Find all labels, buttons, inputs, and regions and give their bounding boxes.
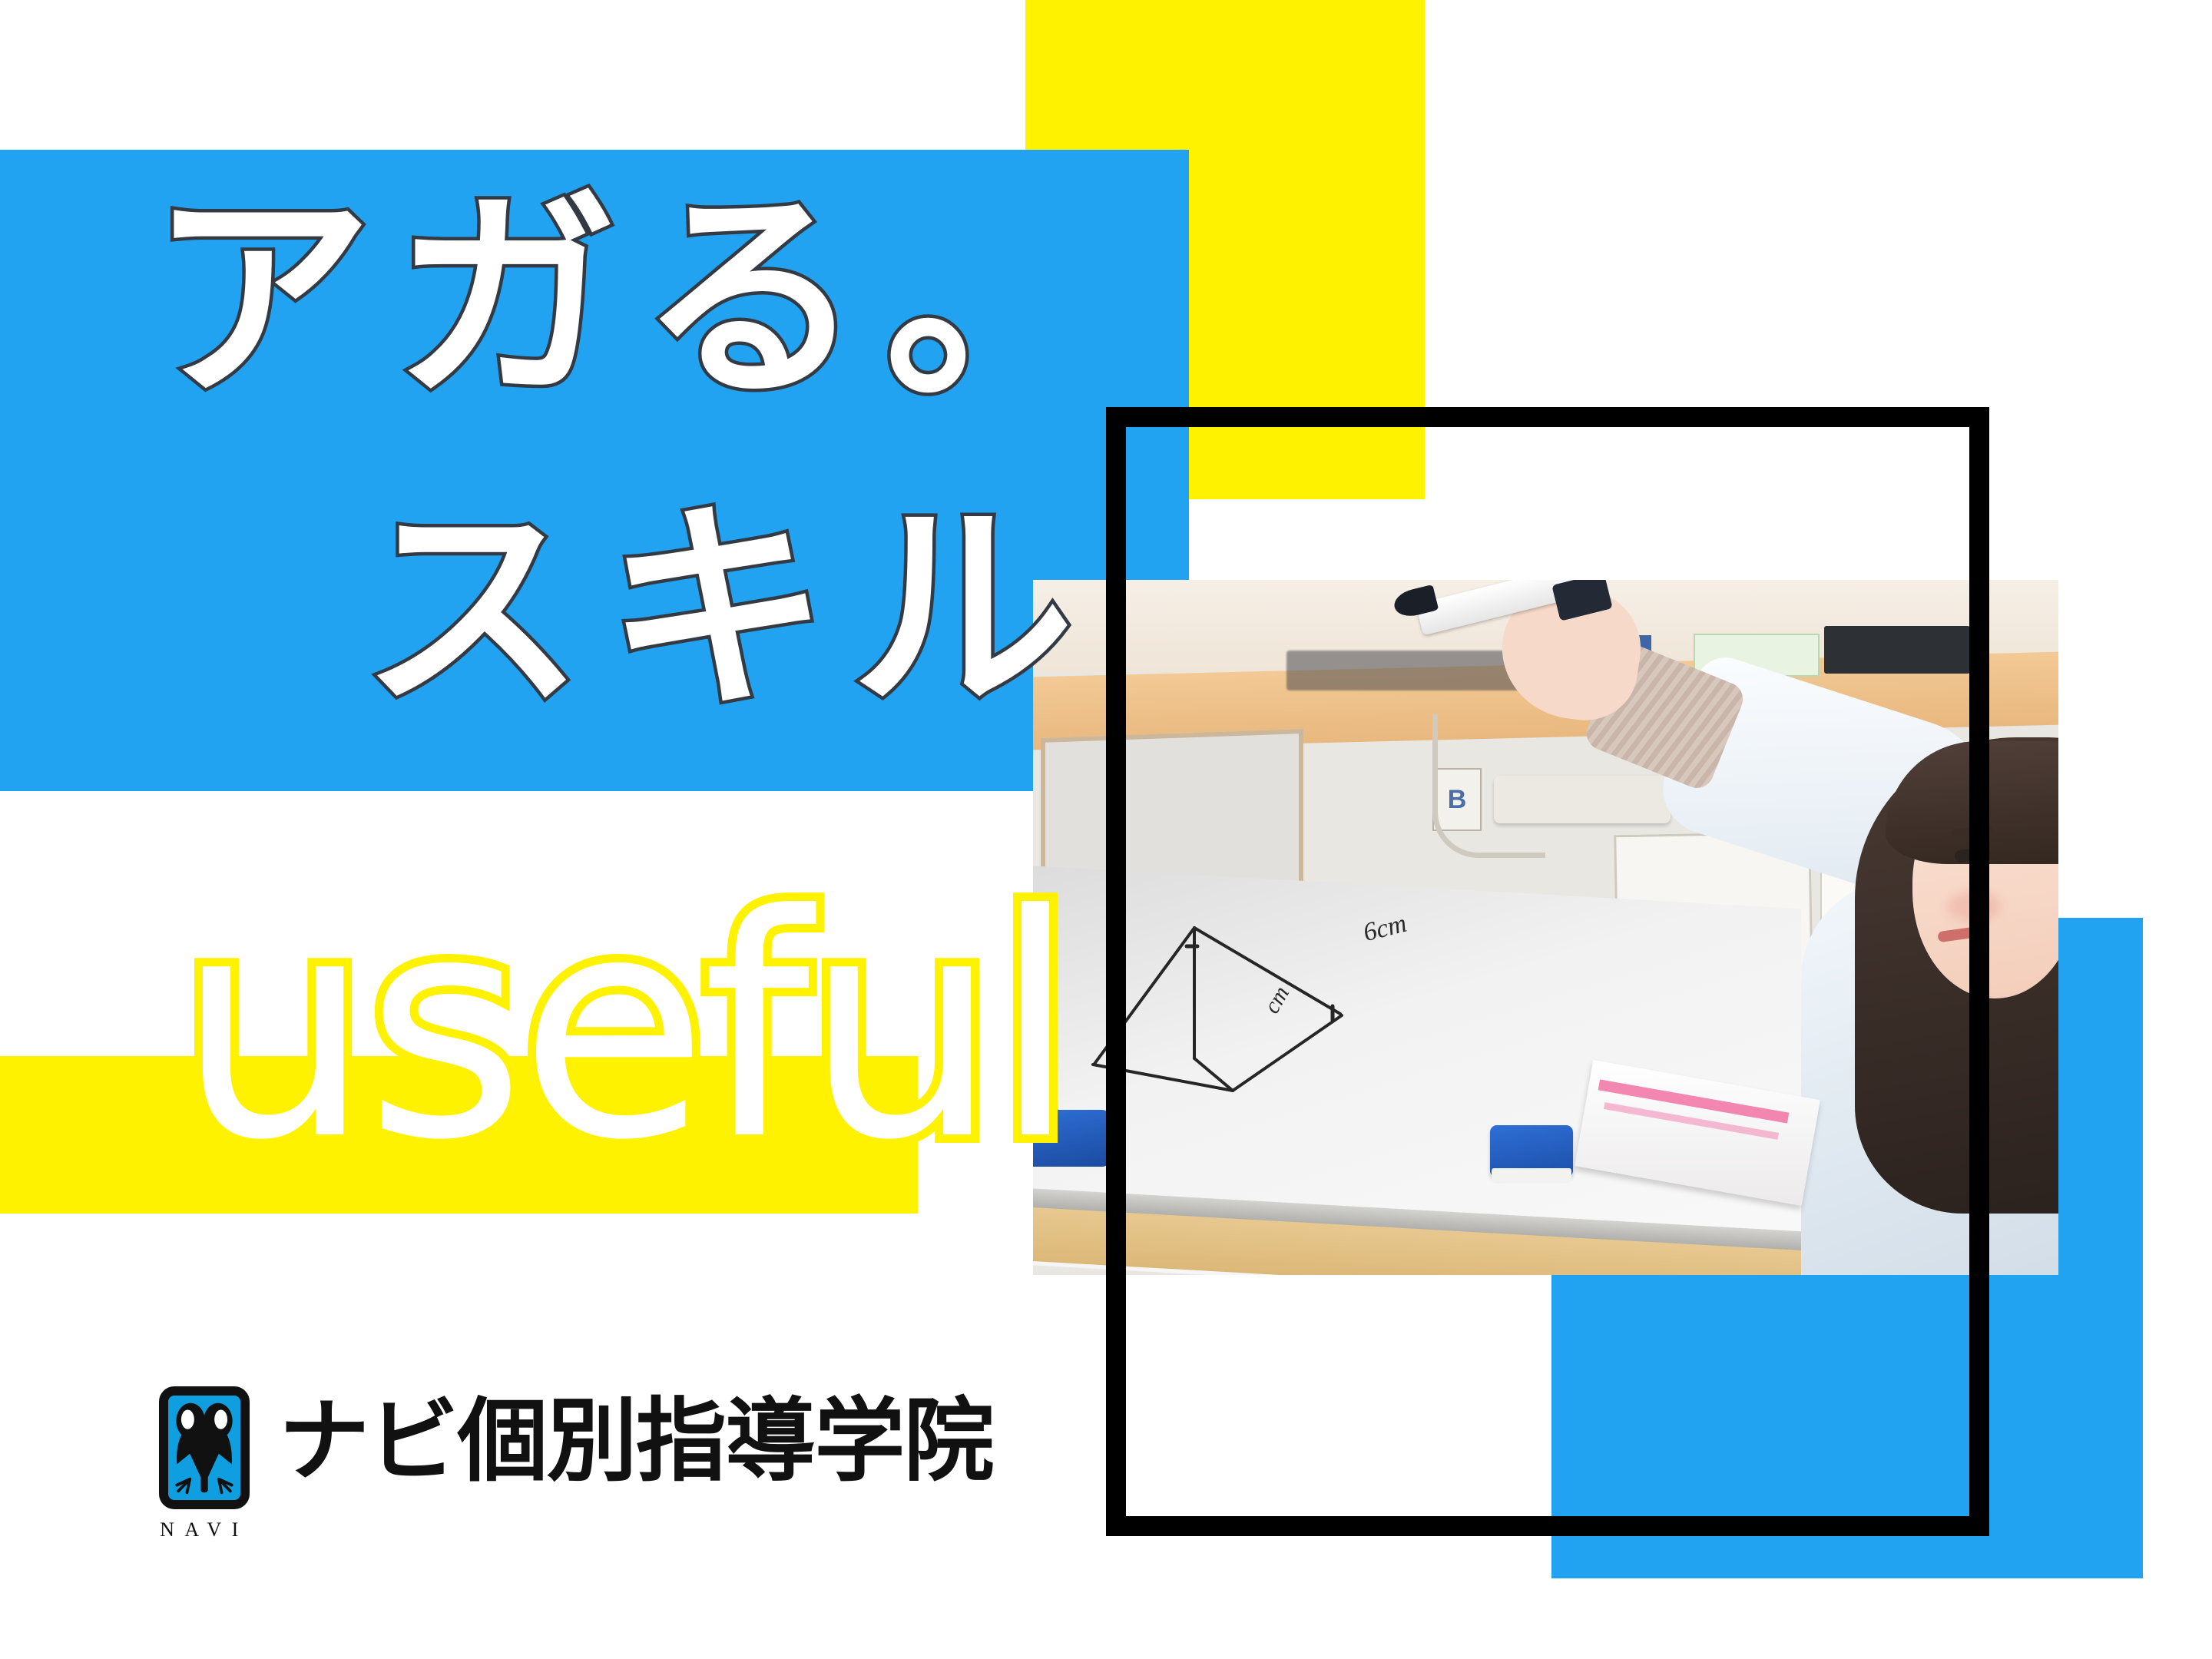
eraser-felt [1492,1168,1571,1182]
logo-mark: NAVI [157,1386,251,1541]
classroom-photo: B 6cm cm [1033,580,2058,1275]
printer [1824,626,1970,674]
useful-wordmark: useful [177,876,1071,1183]
brand-logo: NAVI ナビ個別指導学院 [157,1386,993,1541]
headline-line-2: スキル [361,499,1096,722]
cheek-blush [1947,891,2001,922]
navi-penguin-mascot-icon [159,1386,250,1509]
headline-line-1: アガる。 [150,188,1130,411]
power-strip [1494,776,1671,823]
brand-name: ナビ個別指導学院 [279,1396,993,1486]
logo-sub-text: NAVI [160,1518,249,1541]
poster-canvas: アガる。 スキル useful B [0,0,2212,1659]
